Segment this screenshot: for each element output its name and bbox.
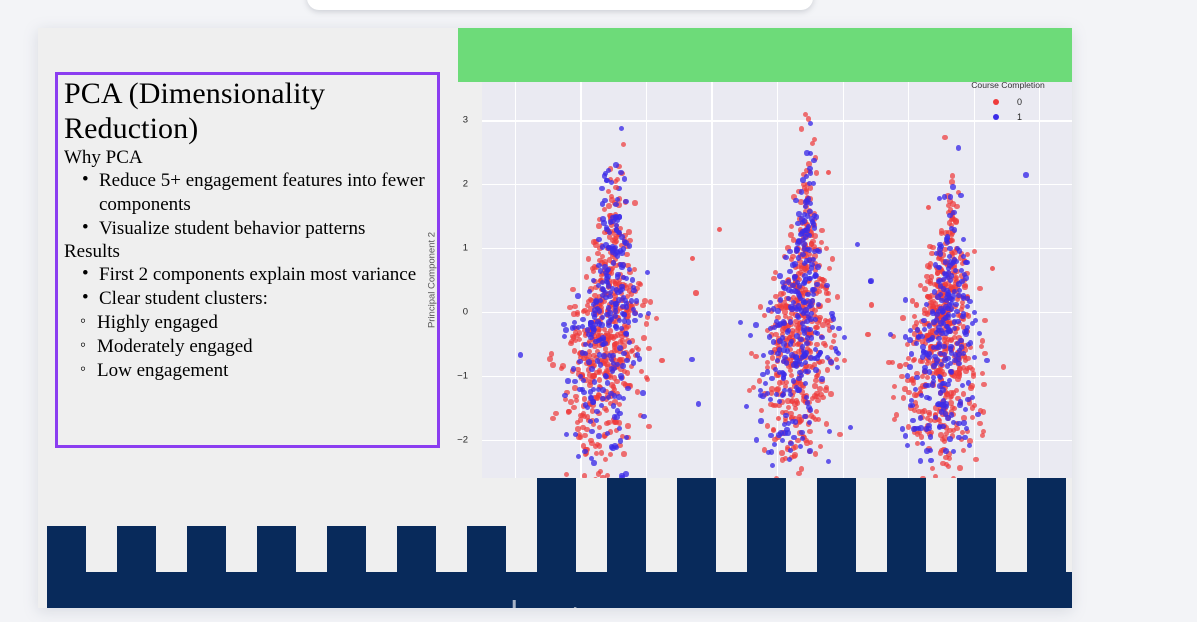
legend-item: 0 <box>954 94 1062 109</box>
scatter-point <box>914 375 919 380</box>
scatter-point <box>809 413 814 418</box>
scatter-point <box>617 426 622 431</box>
scatter-point <box>582 449 587 454</box>
scatter-point <box>937 383 942 388</box>
scatter-point <box>564 472 569 477</box>
scatter-point <box>913 426 918 431</box>
scatter-point <box>644 321 649 326</box>
grid-line-vertical <box>646 82 647 478</box>
scatter-point <box>814 170 819 175</box>
scatter-point <box>606 323 611 328</box>
scatter-point <box>613 301 618 306</box>
scatter-point <box>801 241 806 246</box>
scatter-point <box>794 398 799 403</box>
scatter-point <box>799 308 804 313</box>
section-heading: Results <box>64 241 431 263</box>
scatter-point <box>808 440 813 445</box>
scatter-point <box>630 277 635 282</box>
scatter-point <box>961 311 966 316</box>
scatter-point <box>909 351 914 356</box>
scatter-point <box>635 389 640 394</box>
scatter-point <box>949 337 954 342</box>
scatter-point <box>813 451 818 456</box>
scatter-point <box>791 378 796 383</box>
grid-line-vertical <box>908 82 909 478</box>
scatter-point <box>799 430 804 435</box>
scatter-point <box>837 432 842 437</box>
scatter-point <box>627 340 632 345</box>
scatter-point <box>901 395 906 400</box>
scatter-point <box>575 420 580 425</box>
scatter-point-outlier <box>689 357 694 362</box>
scatter-point <box>956 281 961 286</box>
scatter-point <box>934 317 939 322</box>
scatter-point <box>623 325 628 330</box>
scatter-point <box>977 286 982 291</box>
scatter-point <box>777 338 782 343</box>
scatter-point <box>908 403 913 408</box>
scatter-point <box>817 386 822 391</box>
scatter-point <box>572 304 577 309</box>
scatter-point <box>942 194 947 199</box>
scatter-point <box>638 313 643 318</box>
scatter-point <box>942 135 947 140</box>
scatter-point <box>927 396 932 401</box>
scatter-point <box>834 357 839 362</box>
scatter-point <box>972 403 977 408</box>
scatter-point-outlier <box>693 290 698 295</box>
scatter-point <box>632 267 637 272</box>
scatter-point <box>606 168 611 173</box>
scatter-point <box>800 252 805 257</box>
scatter-point <box>646 424 651 429</box>
scatter-point <box>979 344 984 349</box>
scatter-point <box>613 202 618 207</box>
scatter-point <box>803 381 808 386</box>
scatter-point <box>768 402 773 407</box>
scatter-point <box>811 158 816 163</box>
scatter-point-outlier <box>776 416 781 421</box>
scatter-point <box>804 258 809 263</box>
scatter-point <box>952 227 957 232</box>
scatter-point <box>799 126 804 131</box>
scatter-point <box>792 261 797 266</box>
scatter-point <box>753 354 758 359</box>
scatter-point <box>819 376 824 381</box>
scatter-point <box>924 448 929 453</box>
scatter-point <box>938 390 943 395</box>
scatter-point <box>951 210 956 215</box>
scatter-point <box>611 260 616 265</box>
grid-line-vertical <box>711 82 712 478</box>
scatter-point <box>625 386 630 391</box>
scatter-point <box>625 423 630 428</box>
scatter-point <box>818 444 823 449</box>
scatter-point <box>931 363 936 368</box>
scatter-point <box>607 230 612 235</box>
scatter-point-outlier <box>868 278 873 283</box>
scatter-point <box>622 176 627 181</box>
scatter-point <box>603 457 608 462</box>
scatter-point <box>601 287 606 292</box>
scatter-point <box>738 320 743 325</box>
scatter-point <box>902 386 907 391</box>
scatter-point <box>892 384 897 389</box>
scatter-point <box>602 264 607 269</box>
scatter-point <box>768 433 773 438</box>
scatter-point <box>622 239 627 244</box>
scatter-point <box>810 239 815 244</box>
scatter-point <box>953 302 958 307</box>
scatter-point <box>948 361 953 366</box>
scatter-point <box>802 414 807 419</box>
scatter-point <box>891 395 896 400</box>
legend-title: Course Completion <box>954 80 1062 90</box>
scatter-point <box>933 262 938 267</box>
scatter-point <box>771 276 776 281</box>
scatter-point <box>911 381 916 386</box>
scatter-point <box>800 177 805 182</box>
chart-legend: Course Completion 0 1 <box>954 80 1062 124</box>
scatter-point <box>824 246 829 251</box>
decor-block <box>327 526 366 608</box>
scatter-point <box>632 318 637 323</box>
scatter-point <box>949 238 954 243</box>
scatter-point <box>622 318 627 323</box>
scatter-point <box>648 299 653 304</box>
scatter-point <box>910 418 915 423</box>
scatter-point <box>810 141 815 146</box>
scatter-point <box>905 443 910 448</box>
scatter-point <box>981 382 986 387</box>
scatter-point <box>816 417 821 422</box>
scatter-point <box>639 369 644 374</box>
scatter-point <box>977 331 982 336</box>
scatter-point <box>613 216 618 221</box>
scatter-point <box>967 443 972 448</box>
scatter-point <box>802 330 807 335</box>
scatter-point <box>634 298 639 303</box>
scatter-point <box>597 443 602 448</box>
section-why-pca: Why PCA Reduce 5+ engagement features in… <box>64 147 431 241</box>
scatter-point <box>629 298 634 303</box>
scatter-point <box>602 207 607 212</box>
scatter-point <box>616 394 621 399</box>
scatter-point <box>936 336 941 341</box>
scatter-point <box>825 355 830 360</box>
decor-block <box>817 478 856 608</box>
scatter-point <box>808 170 813 175</box>
scatter-point <box>624 252 629 257</box>
scatter-point <box>812 274 817 279</box>
scatter-point <box>617 345 622 350</box>
scatter-point <box>806 405 811 410</box>
scatter-point <box>984 358 989 363</box>
scatter-point-outlier <box>744 404 749 409</box>
scatter-point <box>823 343 828 348</box>
scatter-point <box>784 360 789 365</box>
scatter-point <box>939 409 944 414</box>
scatter-point <box>563 327 568 332</box>
scatter-point <box>600 216 605 221</box>
scatter-point <box>933 415 938 420</box>
scatter-point <box>928 278 933 283</box>
scatter-point-outlier <box>518 352 523 357</box>
scatter-point <box>611 384 616 389</box>
scatter-point <box>808 121 813 126</box>
scatter-point <box>607 294 612 299</box>
scatter-point <box>960 383 965 388</box>
scatter-point <box>562 334 567 339</box>
scatter-point <box>819 335 824 340</box>
scatter-point <box>955 319 960 324</box>
decor-block <box>82 572 121 608</box>
bullet-sublist-clusters: Highly engaged Moderately engaged Low en… <box>64 311 431 383</box>
scatter-point <box>765 369 770 374</box>
scatter-point <box>610 369 615 374</box>
scatter-point <box>842 335 847 340</box>
scatter-point <box>952 326 957 331</box>
scatter-point <box>608 452 613 457</box>
scatter-point <box>604 421 609 426</box>
scatter-point <box>941 344 946 349</box>
scatter-point <box>804 395 809 400</box>
scatter-point <box>560 363 565 368</box>
scatter-point <box>812 233 817 238</box>
decor-block <box>397 526 436 608</box>
list-item: Visualize student behavior patterns <box>64 217 431 241</box>
scatter-point <box>943 401 948 406</box>
y-axis-tick-label: 3 <box>463 115 468 126</box>
content-text-box: PCA (Dimensionality Reduction) Why PCA R… <box>55 72 440 448</box>
scatter-point <box>788 304 793 309</box>
scatter-point <box>593 298 598 303</box>
scatter-point-outlier <box>855 242 860 247</box>
scatter-point <box>602 173 607 178</box>
scatter-point <box>550 416 555 421</box>
scatter-point <box>605 380 610 385</box>
scatter-point <box>760 393 765 398</box>
scatter-point <box>828 359 833 364</box>
scatter-point <box>793 406 798 411</box>
scatter-point <box>947 456 952 461</box>
scatter-point <box>922 286 927 291</box>
scatter-point <box>805 232 810 237</box>
scatter-point <box>899 374 904 379</box>
scatter-point <box>580 317 585 322</box>
scatter-point <box>592 379 597 384</box>
scatter-point <box>799 189 804 194</box>
scatter-point <box>961 391 966 396</box>
scatter-point <box>804 150 809 155</box>
scatter-point <box>831 339 836 344</box>
scatter-point <box>820 395 825 400</box>
scatter-point <box>890 360 895 365</box>
y-axis-tick-label: 0 <box>463 306 468 317</box>
scatter-point <box>977 421 982 426</box>
bullet-list-results: First 2 components explain most variance… <box>64 263 431 311</box>
scatter-point <box>907 364 912 369</box>
scatter-point <box>782 355 787 360</box>
scatter-point <box>954 204 959 209</box>
scatter-point <box>975 412 980 417</box>
scatter-point <box>910 298 915 303</box>
scatter-point <box>923 383 928 388</box>
scatter-point <box>781 291 786 296</box>
scatter-point <box>572 379 577 384</box>
scatter-point <box>951 428 956 433</box>
decor-block <box>642 572 681 608</box>
scatter-point <box>777 273 782 278</box>
bullet-list-why: Reduce 5+ engagement features into fewer… <box>64 169 431 241</box>
scatter-point <box>621 351 626 356</box>
scatter-point <box>947 436 952 441</box>
scatter-point <box>802 218 807 223</box>
pca-scatter-chart: Principal Component 2 3210−1−2 Course Co… <box>440 82 1072 478</box>
scatter-point <box>580 425 585 430</box>
scatter-point <box>936 368 941 373</box>
scatter-point <box>780 280 785 285</box>
scatter-point <box>809 262 814 267</box>
scatter-point <box>753 322 758 327</box>
scatter-point-outlier <box>869 302 874 307</box>
scatter-point <box>778 430 783 435</box>
scatter-point <box>933 474 938 478</box>
list-item: Highly engaged <box>64 311 431 335</box>
scatter-point <box>796 303 801 308</box>
scatter-point <box>945 234 950 239</box>
scatter-point <box>927 323 932 328</box>
scatter-point <box>956 435 961 440</box>
scatter-point <box>758 304 763 309</box>
scatter-point <box>903 433 908 438</box>
scatter-point <box>961 237 966 242</box>
scatter-point <box>938 292 943 297</box>
scatter-point <box>815 264 820 269</box>
presentation-slide: PCA (Dimensionality Reduction) Why PCA R… <box>38 28 1072 608</box>
scatter-point <box>963 407 968 412</box>
scatter-point <box>827 429 832 434</box>
scatter-point <box>654 316 659 321</box>
scatter-point <box>807 448 812 453</box>
scatter-point-outlier <box>690 256 695 261</box>
scatter-point <box>571 311 576 316</box>
scatter-point <box>775 351 780 356</box>
scatter-point <box>962 329 967 334</box>
scatter-point <box>617 402 622 407</box>
scatter-point <box>568 399 573 404</box>
scatter-point <box>956 421 961 426</box>
scatter-point <box>790 254 795 259</box>
decor-block <box>537 478 576 608</box>
scatter-point <box>768 300 773 305</box>
list-item: First 2 components explain most variance <box>64 263 431 287</box>
scatter-point <box>927 244 932 249</box>
scatter-point <box>596 237 601 242</box>
scatter-point <box>571 405 576 410</box>
scatter-point <box>587 372 592 377</box>
scatter-point <box>786 421 791 426</box>
scatter-point <box>620 304 625 309</box>
scatter-point <box>825 367 830 372</box>
scatter-point-outlier <box>659 358 664 363</box>
scatter-point <box>805 292 810 297</box>
scatter-point <box>930 311 935 316</box>
scatter-point <box>961 448 966 453</box>
scatter-point <box>835 365 840 370</box>
scatter-point <box>763 381 768 386</box>
scatter-point <box>599 450 604 455</box>
scatter-point <box>950 184 955 189</box>
scatter-point <box>905 373 910 378</box>
scatter-point <box>828 391 833 396</box>
scatter-point <box>963 260 968 265</box>
scatter-point <box>597 425 602 430</box>
scatter-point <box>788 319 793 324</box>
scatter-point <box>564 432 569 437</box>
scatter-point <box>762 313 767 318</box>
scatter-point <box>938 251 943 256</box>
scatter-point <box>761 353 766 358</box>
scatter-point <box>824 290 829 295</box>
scatter-point <box>819 240 824 245</box>
scatter-point <box>610 238 615 243</box>
scatter-point <box>814 282 819 287</box>
scatter-point <box>900 426 905 431</box>
scatter-point <box>619 265 624 270</box>
decor-block <box>47 526 86 608</box>
scatter-point <box>602 198 607 203</box>
scatter-point <box>635 352 640 357</box>
scatter-point <box>951 313 956 318</box>
decor-block <box>887 478 926 608</box>
scatter-point <box>582 433 587 438</box>
scatter-point <box>788 441 793 446</box>
scatter-point <box>600 475 605 478</box>
scatter-point <box>921 318 926 323</box>
scatter-point <box>938 450 943 455</box>
y-axis-tick-label: −2 <box>457 434 468 445</box>
scatter-point <box>920 476 925 478</box>
decor-block <box>922 572 961 608</box>
scatter-point <box>807 420 812 425</box>
decor-block <box>782 572 821 608</box>
scatter-point <box>808 201 813 206</box>
scatter-point <box>794 289 799 294</box>
scatter-point <box>783 413 788 418</box>
scatter-point <box>927 294 932 299</box>
scatter-point <box>948 194 953 199</box>
y-axis-label: Principal Component 2 <box>427 232 438 328</box>
section-heading: Why PCA <box>64 147 431 169</box>
scatter-point <box>588 438 593 443</box>
scatter-point <box>814 409 819 414</box>
scatter-point <box>573 394 578 399</box>
scatter-point <box>946 464 951 469</box>
watermark-text: خرسانت <box>468 594 586 608</box>
scatter-point <box>949 394 954 399</box>
scatter-point <box>620 363 625 368</box>
scatter-point <box>789 224 794 229</box>
decor-block <box>222 572 261 608</box>
scatter-point <box>825 319 830 324</box>
scatter-point <box>588 320 593 325</box>
scatter-point <box>967 299 972 304</box>
scatter-point <box>813 367 818 372</box>
scatter-point <box>961 420 966 425</box>
scatter-point-outlier <box>645 270 650 275</box>
scatter-point-outlier <box>865 332 870 337</box>
